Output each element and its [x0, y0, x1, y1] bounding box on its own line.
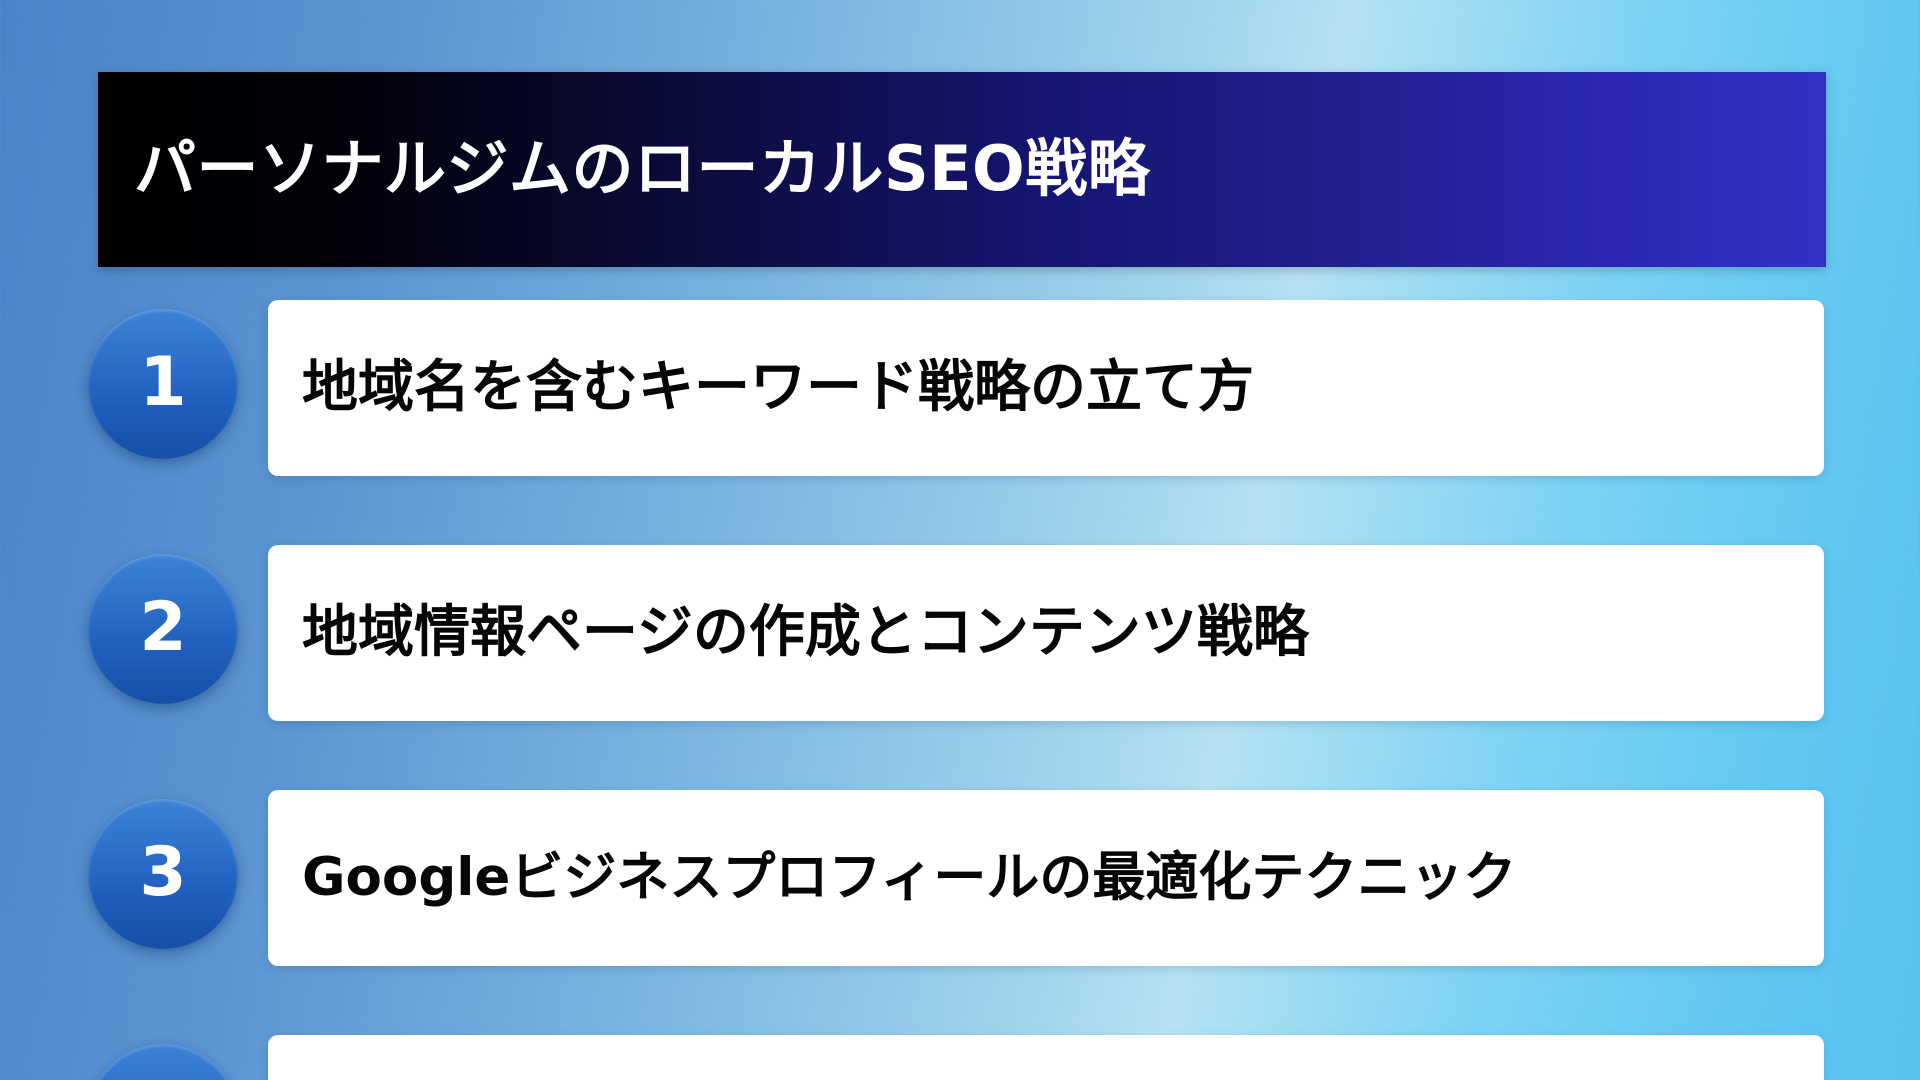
list-item[interactable]: 1 地域名を含むキーワード戦略の立て方	[0, 300, 1920, 485]
step-badge-1: 1	[88, 309, 238, 459]
step-label: Googleビジネスプロフィールの最適化テクニック	[268, 848, 1516, 909]
step-number: 1	[139, 349, 186, 417]
step-card-4[interactable]: 地域メディアや関連サイトからの被リンク獲得	[268, 1035, 1824, 1080]
step-card-2[interactable]: 地域情報ページの作成とコンテンツ戦略	[268, 545, 1824, 721]
page-title: パーソナルジムのローカルSEO戦略	[98, 135, 1150, 203]
step-label: 地域名を含むキーワード戦略の立て方	[268, 356, 1254, 420]
step-badge-2: 2	[88, 554, 238, 704]
step-number: 3	[139, 839, 186, 907]
step-card-1[interactable]: 地域名を含むキーワード戦略の立て方	[268, 300, 1824, 476]
step-number: 2	[139, 594, 186, 662]
list-item[interactable]: 2 地域情報ページの作成とコンテンツ戦略	[0, 545, 1920, 730]
step-label: 地域情報ページの作成とコンテンツ戦略	[268, 601, 1309, 665]
list-item[interactable]: 3 Googleビジネスプロフィールの最適化テクニック	[0, 790, 1920, 975]
list-item[interactable]: 4 地域メディアや関連サイトからの被リンク獲得	[0, 1035, 1920, 1080]
step-card-3[interactable]: Googleビジネスプロフィールの最適化テクニック	[268, 790, 1824, 966]
step-badge-4: 4	[88, 1044, 238, 1080]
step-badge-3: 3	[88, 799, 238, 949]
slide-canvas: パーソナルジムのローカルSEO戦略 1 地域名を含むキーワード戦略の立て方 2 …	[0, 0, 1920, 1080]
numbered-list: 1 地域名を含むキーワード戦略の立て方 2 地域情報ページの作成とコンテンツ戦略…	[0, 300, 1920, 1080]
title-bar: パーソナルジムのローカルSEO戦略	[98, 72, 1826, 267]
